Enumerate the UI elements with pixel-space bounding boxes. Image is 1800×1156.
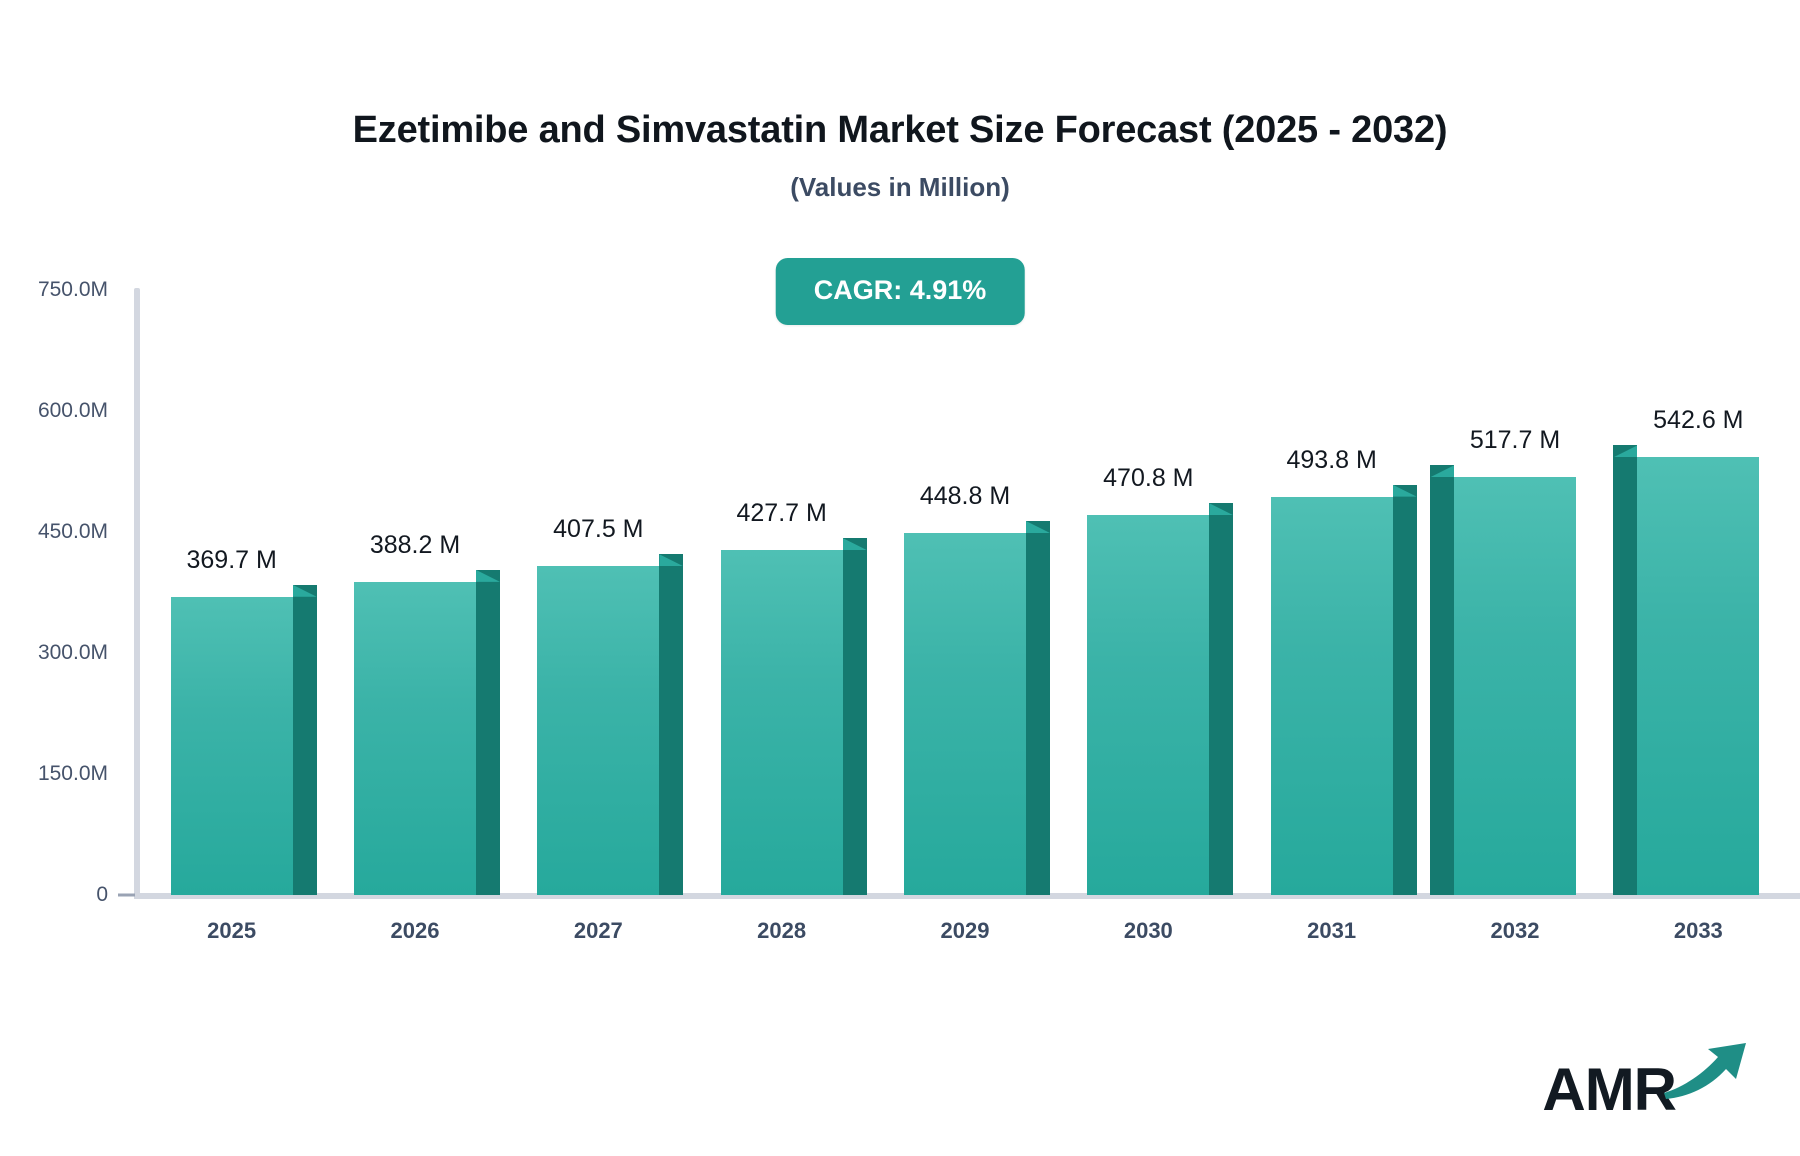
bar-front-face xyxy=(1271,497,1393,895)
bar-side-face xyxy=(843,538,867,895)
y-axis-tick-label: 750.0M xyxy=(0,278,108,302)
bar[interactable]: 407.5 M xyxy=(537,566,659,895)
bar-side-face xyxy=(1393,485,1417,895)
bar[interactable]: 493.8 M xyxy=(1271,497,1393,895)
bar[interactable]: 369.7 M xyxy=(171,597,293,895)
bar-side-face xyxy=(1026,521,1050,895)
y-axis-tick-label: 300.0M xyxy=(0,641,108,665)
chart-plot-area: 0150.0M300.0M450.0M600.0M750.0M 2025369.… xyxy=(0,0,1800,960)
bar-front-face xyxy=(721,550,843,895)
y-axis-tick-label: 600.0M xyxy=(0,399,108,423)
amr-logo-text: AMR xyxy=(1542,1060,1676,1120)
bar[interactable]: 388.2 M xyxy=(354,582,476,895)
bar[interactable]: 542.6 M xyxy=(1637,457,1759,895)
bar-side-face xyxy=(1209,503,1233,895)
bar-value-label: 542.6 M xyxy=(1568,406,1800,435)
bar-front-face xyxy=(354,582,476,895)
y-axis-line xyxy=(134,288,140,895)
x-axis-tick-label: 2033 xyxy=(1568,918,1800,944)
bar-front-face xyxy=(1637,457,1759,895)
bar[interactable]: 470.8 M xyxy=(1087,515,1209,895)
bar[interactable]: 448.8 M xyxy=(904,533,1026,895)
bar-side-face xyxy=(476,570,500,895)
bar-side-face xyxy=(659,554,683,895)
bar[interactable]: 427.7 M xyxy=(721,550,843,895)
growth-arrow-icon xyxy=(1662,1039,1748,1106)
y-axis-tick-label: 450.0M xyxy=(0,520,108,544)
bar-side-face xyxy=(1613,445,1637,895)
y-axis-tick-mark xyxy=(118,894,135,897)
amr-logo: AMR xyxy=(1542,1039,1748,1120)
bar-front-face xyxy=(537,566,659,895)
bar-front-face xyxy=(1087,515,1209,895)
bar-side-face xyxy=(293,585,317,895)
bar[interactable]: 517.7 M xyxy=(1454,477,1576,895)
bar-front-face xyxy=(171,597,293,895)
y-axis-tick-label: 150.0M xyxy=(0,762,108,786)
bar-front-face xyxy=(1454,477,1576,895)
bar-side-face xyxy=(1430,465,1454,895)
bar-front-face xyxy=(904,533,1026,895)
y-axis-tick-label: 0 xyxy=(0,883,108,907)
